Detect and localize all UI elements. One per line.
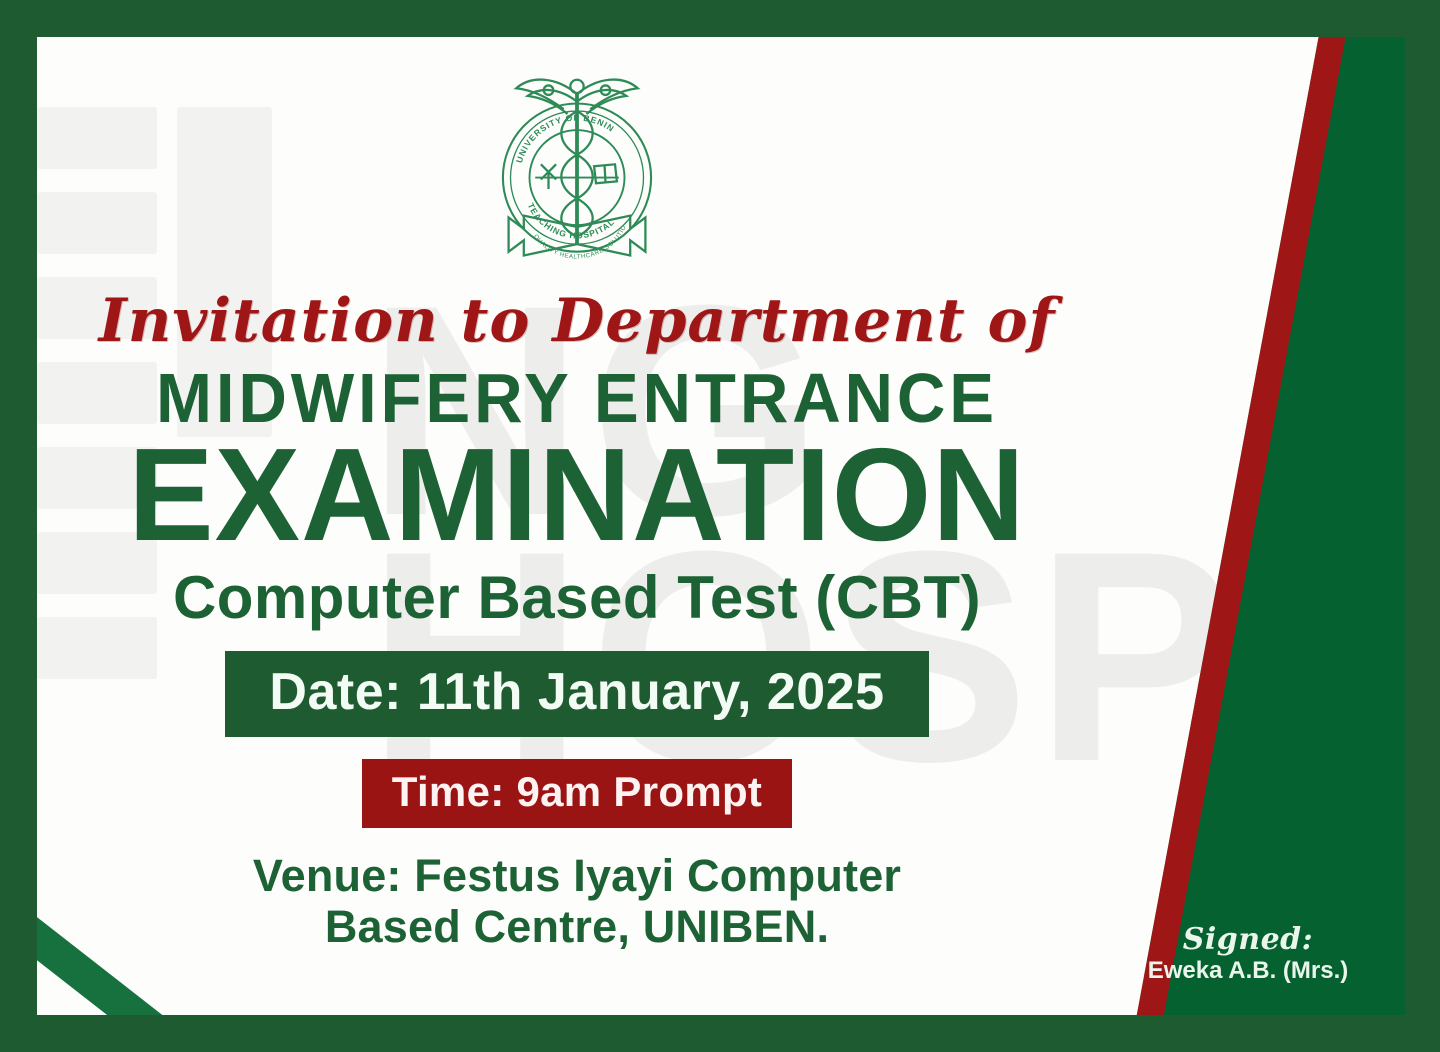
venue-line-1: Venue: Festus Iyayi Computer bbox=[37, 850, 1117, 901]
examination-heading: EXAMINATION bbox=[53, 438, 1101, 552]
signature-block: Signed: Eweka A.B. (Mrs.) bbox=[1133, 925, 1363, 985]
signed-label: Signed: bbox=[1133, 925, 1363, 955]
venue-text: Venue: Festus Iyayi Computer Based Centr… bbox=[37, 850, 1117, 953]
poster-canvas: NG HOSPITAL bbox=[37, 37, 1405, 1015]
time-badge: Time: 9am Prompt bbox=[362, 759, 792, 828]
date-badge: Date: 11th January, 2025 bbox=[225, 651, 928, 737]
poster-content: UNIVERSITY OF BENIN TEACHING HOSPITAL QU… bbox=[37, 37, 1117, 1015]
venue-line-2: Based Centre, UNIBEN. bbox=[37, 901, 1117, 952]
signatory-name: Eweka A.B. (Mrs.) bbox=[1133, 957, 1363, 985]
crest-icon: UNIVERSITY OF BENIN TEACHING HOSPITAL QU… bbox=[482, 65, 672, 275]
test-mode-subheading: Computer Based Test (CBT) bbox=[37, 566, 1117, 629]
invitation-script-line: Invitation to Department of bbox=[37, 291, 1117, 351]
poster-root: NG HOSPITAL bbox=[0, 0, 1440, 1052]
